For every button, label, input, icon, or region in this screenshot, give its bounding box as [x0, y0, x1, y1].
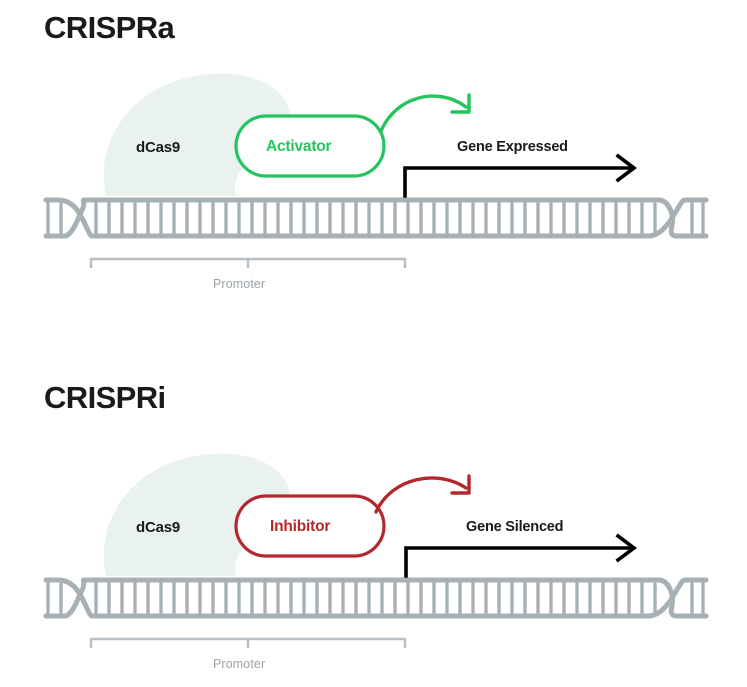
dna-duplex	[46, 200, 706, 236]
panel-crispra: CRISPRa	[0, 0, 747, 370]
promoter-bracket	[91, 258, 405, 268]
transcription-arrow-icon	[405, 156, 634, 196]
inhibitor-label: Inhibitor	[270, 519, 330, 535]
activator-label: Activator	[266, 139, 331, 155]
promoter-label: Promoter	[213, 658, 265, 671]
dcas9-label: dCas9	[136, 140, 180, 155]
transcription-arrow-icon	[406, 536, 634, 576]
outcome-label-silenced: Gene Silenced	[466, 520, 563, 535]
diagram-crispri	[0, 370, 747, 687]
repression-arrow-icon	[376, 476, 469, 512]
promoter-bracket	[91, 638, 405, 648]
activation-arrow-icon	[381, 95, 469, 131]
outcome-label-expressed: Gene Expressed	[457, 140, 568, 155]
crispri-artwork	[0, 370, 747, 687]
crispra-artwork	[0, 0, 747, 370]
dcas9-label: dCas9	[136, 520, 180, 535]
promoter-label: Promoter	[213, 278, 265, 291]
dna-duplex	[46, 580, 706, 616]
diagram-crispra	[0, 0, 747, 370]
panel-crispri: CRISPRi	[0, 370, 747, 687]
